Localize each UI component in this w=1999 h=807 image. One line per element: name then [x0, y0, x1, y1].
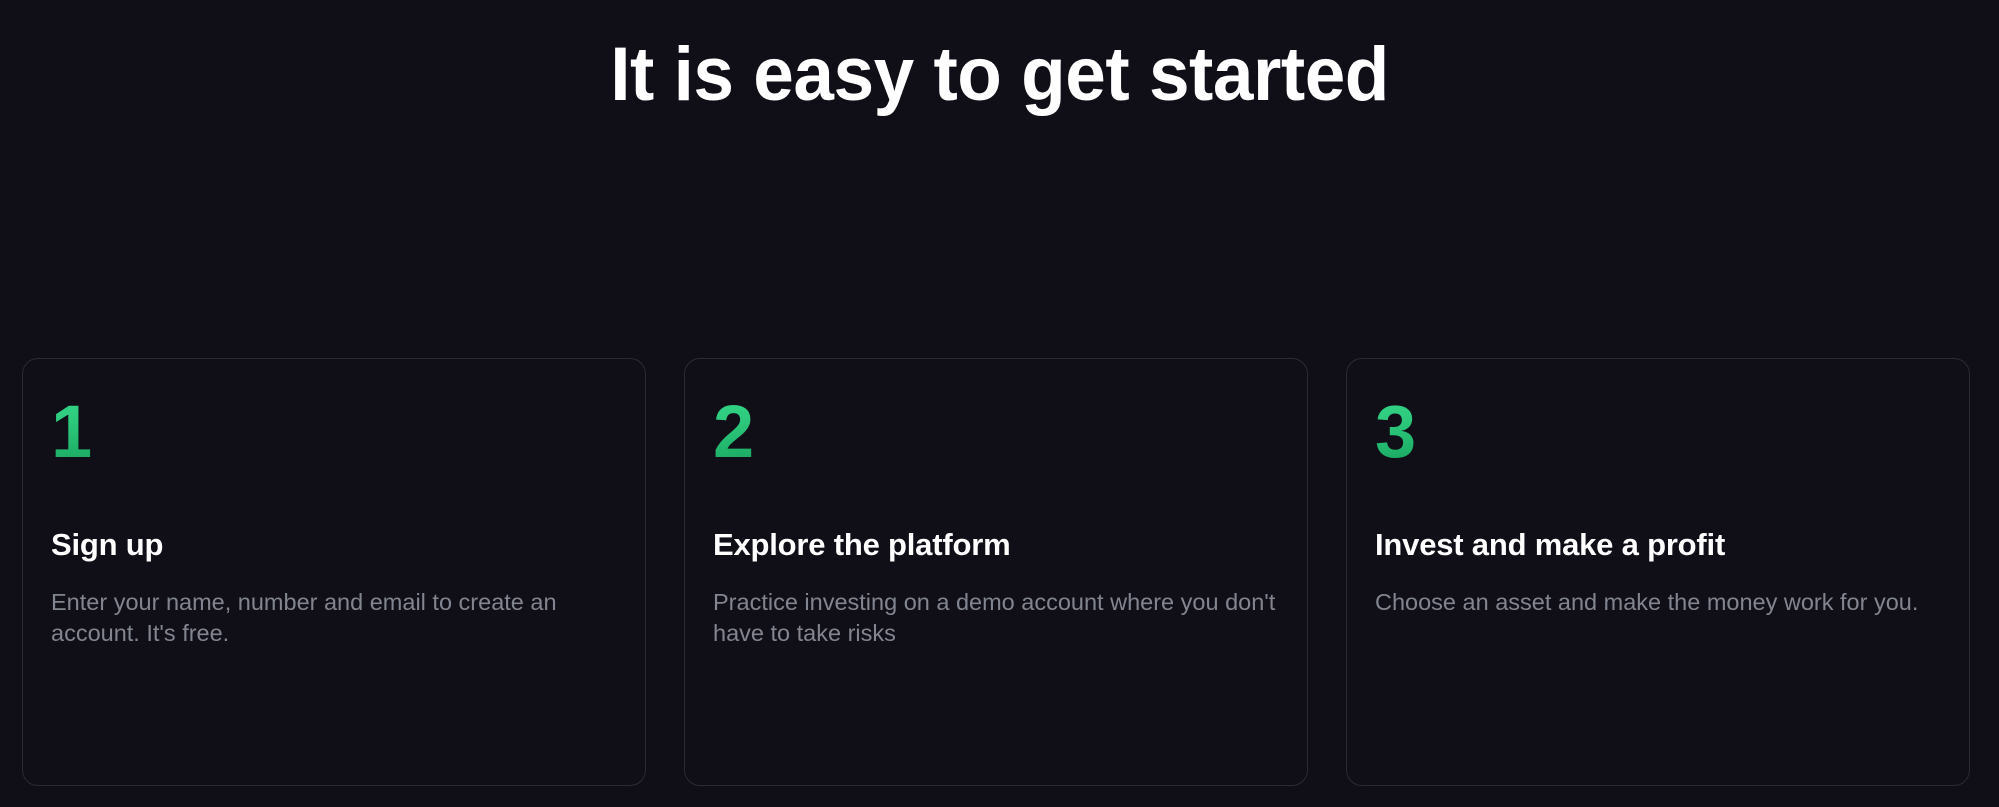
step-card-2: 2 Explore the platform Practice investin… — [684, 358, 1308, 786]
step-description-2: Practice investing on a demo account whe… — [713, 587, 1277, 649]
get-started-section: It is easy to get started 1 Sign up Ente… — [0, 0, 1999, 807]
step-number-1: 1 — [51, 395, 91, 469]
step-title-1: Sign up — [51, 527, 615, 563]
step-description-1: Enter your name, number and email to cre… — [51, 587, 615, 649]
step-description-3: Choose an asset and make the money work … — [1375, 587, 1939, 618]
step-card-1: 1 Sign up Enter your name, number and em… — [22, 358, 646, 786]
step-title-2: Explore the platform — [713, 527, 1277, 563]
page-header: It is easy to get started — [0, 0, 1999, 150]
steps-card-list: 1 Sign up Enter your name, number and em… — [22, 358, 1999, 788]
page-title: It is easy to get started — [610, 35, 1389, 115]
step-number-2: 2 — [713, 395, 753, 469]
step-card-3: 3 Invest and make a profit Choose an ass… — [1346, 358, 1970, 786]
step-title-3: Invest and make a profit — [1375, 527, 1939, 563]
step-number-3: 3 — [1375, 395, 1415, 469]
